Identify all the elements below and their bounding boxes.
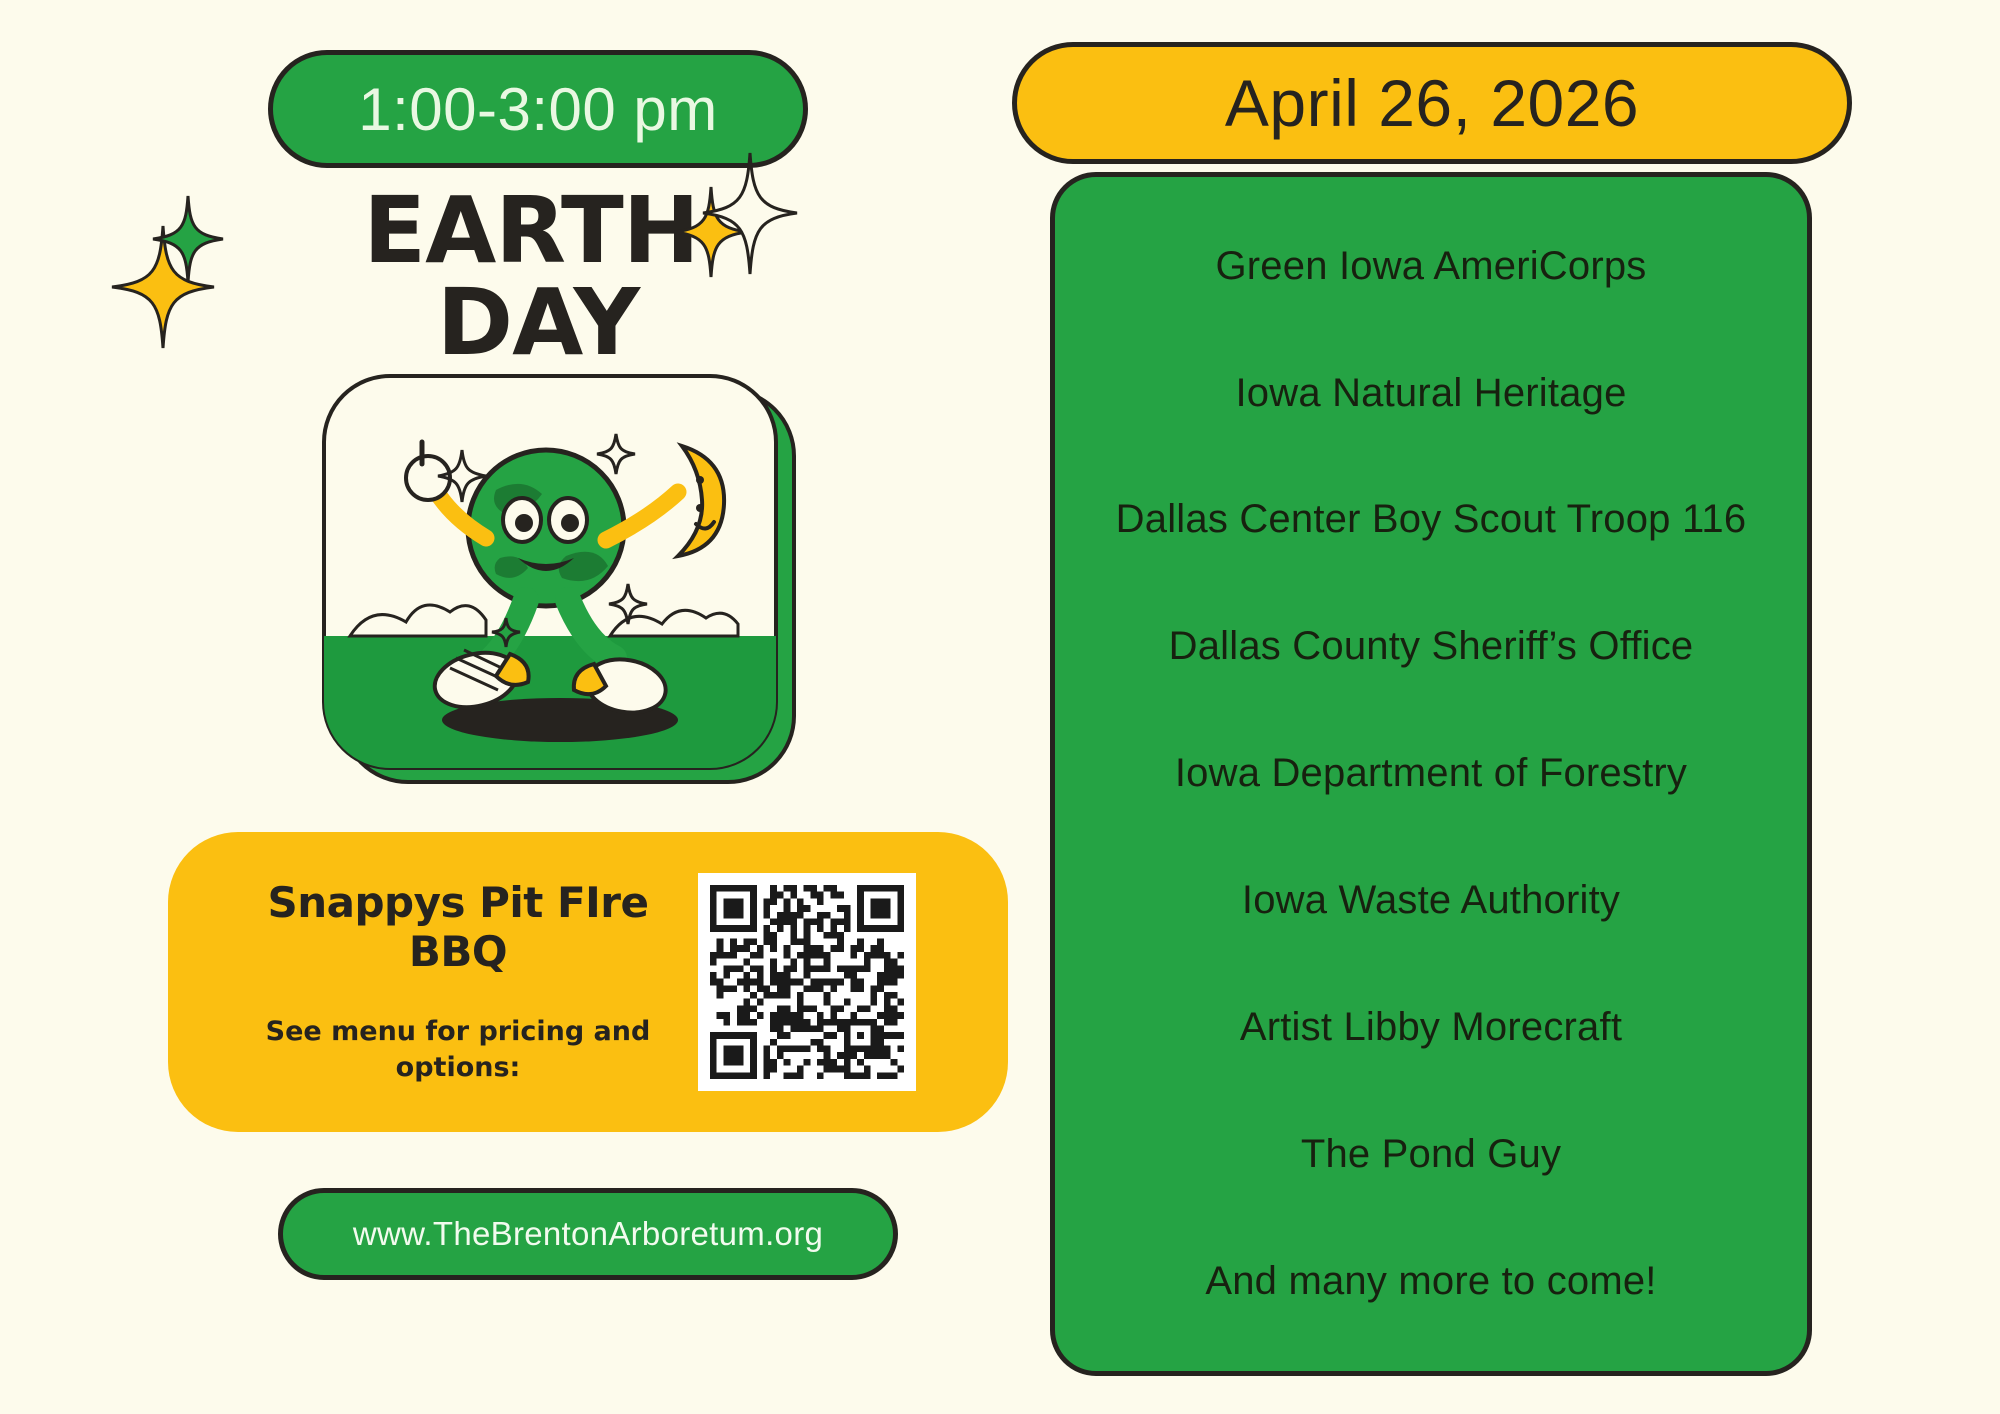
list-item: The Pond Guy	[1089, 1130, 1773, 1180]
bbq-text-block: Snappys Pit FIre BBQ See menu for pricin…	[168, 878, 688, 1087]
qr-code[interactable]	[698, 873, 916, 1091]
website-link[interactable]: www.TheBrentonArboretum.org	[278, 1188, 898, 1280]
organizations-panel: Green Iowa AmeriCorps Iowa Natural Herit…	[1050, 172, 1812, 1376]
title-word-day: DAY	[437, 269, 639, 376]
earth-character-illustration	[310, 368, 810, 798]
list-item: Iowa Department of Forestry	[1089, 749, 1773, 799]
list-item: Dallas Center Boy Scout Troop 116	[1089, 495, 1773, 545]
bbq-subtitle-line-1: See menu for pricing and	[228, 1014, 688, 1050]
earth-day-poster: 1:00-3:00 pm EARTHDAY	[0, 0, 2000, 1414]
qr-code-graphic	[710, 885, 904, 1079]
list-item: Artist Libby Morecraft	[1089, 1003, 1773, 1053]
list-item: Dallas County Sheriff’s Office	[1089, 622, 1773, 672]
bbq-card: Snappys Pit FIre BBQ See menu for pricin…	[168, 832, 1008, 1132]
list-item: Iowa Waste Authority	[1089, 876, 1773, 926]
title-word-earth: EARTH	[363, 177, 699, 284]
bbq-subtitle-line-2: options:	[228, 1050, 688, 1086]
list-item: Green Iowa AmeriCorps	[1089, 242, 1773, 292]
sparkle-outline-white-icon	[700, 150, 800, 278]
sparkle-outline-small-icon	[150, 193, 226, 285]
list-item: And many more to come!	[1089, 1257, 1773, 1307]
list-item: Iowa Natural Heritage	[1089, 369, 1773, 419]
bbq-title: Snappys Pit FIre BBQ	[228, 878, 688, 976]
date-badge: April 26, 2026	[1012, 42, 1852, 164]
left-column: 1:00-3:00 pm EARTHDAY	[0, 0, 1040, 1414]
bbq-subtitle: See menu for pricing and options:	[228, 1014, 688, 1087]
